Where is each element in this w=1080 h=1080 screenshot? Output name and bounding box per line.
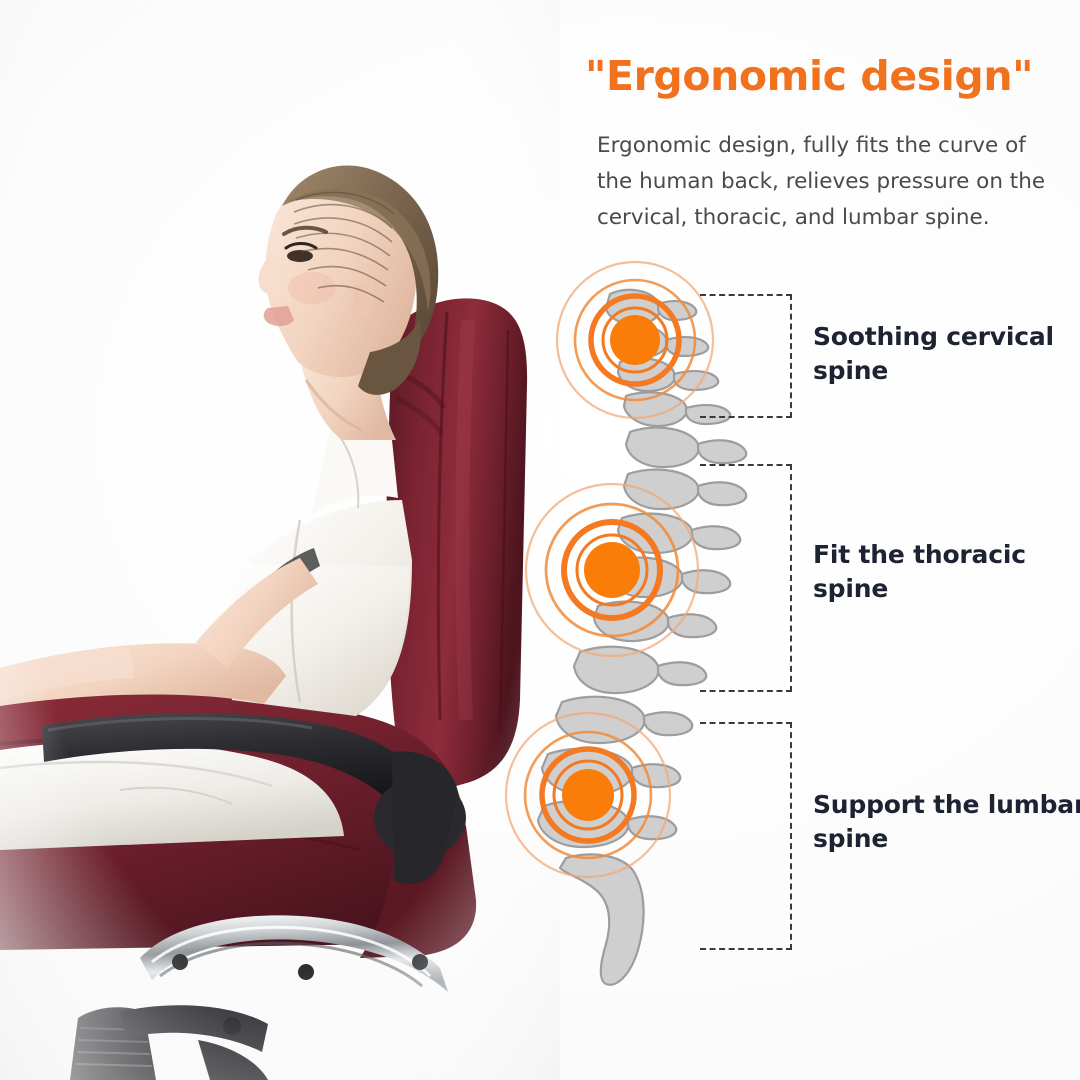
callout-cervical-line2: spine xyxy=(813,354,1054,388)
bracket-bottom-line xyxy=(700,948,792,950)
bracket-right-line xyxy=(790,294,792,418)
bracket-top-line xyxy=(700,464,792,466)
bracket-cervical xyxy=(700,294,792,418)
description-line-3: cervical, thoracic, and lumbar spine. xyxy=(597,200,1057,236)
callout-lumbar-line2: spine xyxy=(813,822,1080,856)
callout-label-thoracic: Fit the thoracic spine xyxy=(813,538,1026,606)
bracket-bottom-line xyxy=(700,690,792,692)
bracket-right-line xyxy=(790,722,792,950)
bracket-bottom-line xyxy=(700,416,792,418)
callout-label-lumbar: Support the lumbar spine xyxy=(813,788,1080,856)
bracket-top-line xyxy=(700,294,792,296)
callout-thoracic-line1: Fit the thoracic xyxy=(813,538,1026,572)
description-line-2: the human back, relieves pressure on the xyxy=(597,164,1057,200)
callout-label-cervical: Soothing cervical spine xyxy=(813,320,1054,388)
callout-thoracic-line2: spine xyxy=(813,572,1026,606)
callout-cervical-line1: Soothing cervical xyxy=(813,320,1054,354)
callout-lumbar-line1: Support the lumbar xyxy=(813,788,1080,822)
description-line-1: Ergonomic design, fully fits the curve o… xyxy=(597,128,1057,164)
bracket-lumbar xyxy=(700,722,792,950)
page-title: "Ergonomic design" xyxy=(585,52,1065,100)
page-description: Ergonomic design, fully fits the curve o… xyxy=(597,128,1057,236)
infographic-canvas: "Ergonomic design" Ergonomic design, ful… xyxy=(0,0,1080,1080)
bracket-right-line xyxy=(790,464,792,692)
bracket-top-line xyxy=(700,722,792,724)
bracket-thoracic xyxy=(700,464,792,692)
